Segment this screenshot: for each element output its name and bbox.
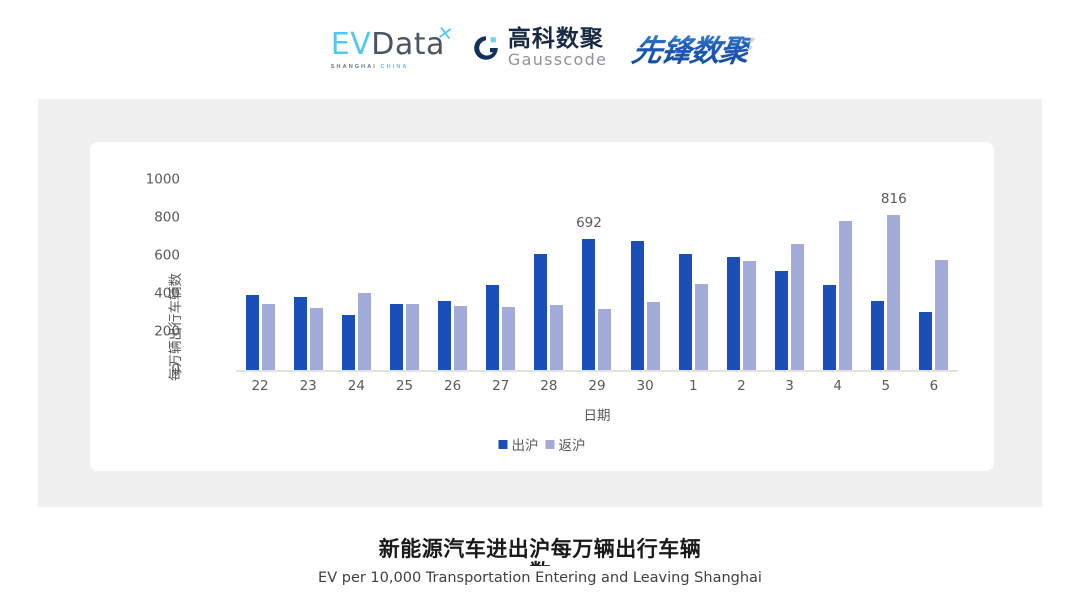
bar-group	[477, 180, 525, 370]
gausscode-en-name: Gausscode	[508, 52, 607, 68]
bar-fan-hu[interactable]	[454, 306, 467, 370]
y-axis-tick-label: 200	[136, 325, 180, 339]
bar-chu-hu[interactable]	[919, 312, 932, 370]
chart-plot-wrapper: 每万辆出行车辆数 02004006008001000 692816 222324…	[90, 142, 994, 471]
evdata-tagline-shanghai: SHANGHAI	[331, 64, 377, 70]
bar-group	[717, 180, 765, 370]
legend-item[interactable]: 出沪	[499, 434, 539, 454]
gausscode-texts: 高科数聚 Gausscode	[508, 28, 607, 68]
bar-chu-hu[interactable]	[727, 257, 740, 370]
legend-label: 返沪	[559, 434, 586, 454]
bar-chu-hu[interactable]	[294, 297, 307, 370]
evdata-tagline: SHANGHAI CHINA	[331, 64, 409, 70]
evdata-tagline-china: CHINA	[381, 64, 409, 70]
bar-chu-hu[interactable]	[871, 301, 884, 370]
bar-fan-hu[interactable]	[550, 305, 563, 370]
bar-fan-hu[interactable]	[310, 308, 323, 370]
x-axis-tick-label: 3	[785, 380, 794, 394]
bar-fan-hu[interactable]	[935, 260, 948, 370]
x-axis-title: 日期	[584, 404, 611, 424]
bar-value-label: 692	[576, 217, 602, 231]
x-axis-tick-label: 4	[833, 380, 842, 394]
bar-group	[765, 180, 813, 370]
bar-group: 816	[862, 180, 910, 370]
bar-fan-hu[interactable]	[502, 307, 515, 370]
bar-group	[621, 180, 669, 370]
bar-fan-hu[interactable]	[647, 302, 660, 370]
bar-chu-hu[interactable]	[534, 254, 547, 370]
evdata-data-text: Data	[371, 27, 445, 62]
bar-group	[332, 180, 380, 370]
y-axis-tick-label: 600	[136, 249, 180, 263]
x-axis-tick-label: 30	[637, 380, 654, 394]
bar-group	[910, 180, 958, 370]
bar-fan-hu[interactable]	[743, 261, 756, 370]
bar-fan-hu[interactable]	[791, 244, 804, 370]
bar-chu-hu[interactable]	[679, 254, 692, 370]
bar-chu-hu[interactable]	[775, 271, 788, 370]
bar-group: 692	[573, 180, 621, 370]
legend-label: 出沪	[512, 434, 539, 454]
bar-group	[669, 180, 717, 370]
x-axis-tick-label: 24	[348, 380, 365, 394]
gausscode-g-mark-icon	[471, 33, 501, 63]
x-axis-tick-label: 6	[930, 380, 939, 394]
bar-fan-hu[interactable]	[598, 309, 611, 370]
x-axis-tick-label: 5	[882, 380, 891, 394]
bar-fan-hu[interactable]	[839, 221, 852, 370]
legend-swatch	[499, 440, 508, 449]
evdata-wordmark: EVData✕	[331, 30, 445, 60]
screenshot-root: EVData✕ SHANGHAI CHINA 高科数聚 Gausscode 先锋…	[0, 0, 1080, 608]
evdata-x-icon: ✕	[436, 24, 455, 45]
x-axis-tick-label: 22	[251, 380, 268, 394]
bar-chu-hu[interactable]	[390, 304, 403, 370]
evdata-ev-text: EV	[331, 27, 371, 62]
y-axis-tick-label: 800	[136, 211, 180, 225]
caption-subtitle: EV per 10,000 Transportation Entering an…	[0, 570, 1080, 586]
y-axis-tick-label: 1000	[136, 173, 180, 187]
gausscode-cn-name: 高科数聚	[508, 28, 607, 51]
logo-bar: EVData✕ SHANGHAI CHINA 高科数聚 Gausscode 先锋…	[0, 0, 1080, 96]
bar-group	[814, 180, 862, 370]
x-axis-tick-label: 29	[588, 380, 605, 394]
bar-group	[236, 180, 284, 370]
bar-fan-hu[interactable]	[406, 304, 419, 371]
bar-fan-hu[interactable]	[695, 284, 708, 370]
x-axis-line	[236, 370, 958, 372]
bars-plot-area: 692816	[236, 180, 958, 370]
bar-group	[284, 180, 332, 370]
bar-group	[525, 180, 573, 370]
bar-fan-hu[interactable]	[358, 293, 371, 370]
xianfeng-shuju-logo: 先锋数聚	[629, 26, 753, 70]
legend-swatch	[546, 440, 555, 449]
x-axis-tick-label: 27	[492, 380, 509, 394]
x-axis-tick-label: 23	[300, 380, 317, 394]
bar-value-label: 816	[881, 193, 907, 207]
bar-group	[429, 180, 477, 370]
bar-group	[380, 180, 428, 370]
bar-chu-hu[interactable]	[438, 301, 451, 370]
bar-fan-hu[interactable]: 816	[887, 215, 900, 370]
evdata-logo: EVData✕ SHANGHAI CHINA	[331, 26, 445, 70]
bar-chu-hu[interactable]	[486, 285, 499, 371]
x-axis-tick-label: 2	[737, 380, 746, 394]
bar-chu-hu[interactable]	[246, 295, 259, 370]
x-axis-tick-label: 26	[444, 380, 461, 394]
chart-card: 每万辆出行车辆数 02004006008001000 692816 222324…	[90, 142, 994, 471]
x-axis-tick-label: 1	[689, 380, 698, 394]
bar-chu-hu[interactable]: 692	[582, 239, 595, 370]
x-axis-tick-label: 28	[540, 380, 557, 394]
bar-fan-hu[interactable]	[262, 304, 275, 370]
x-axis-tick-label: 25	[396, 380, 413, 394]
chart-legend: 出沪返沪	[499, 434, 586, 454]
bar-chu-hu[interactable]	[631, 241, 644, 370]
gausscode-logo: 高科数聚 Gausscode	[471, 28, 607, 68]
caption-title-artifact: 数	[0, 556, 1080, 566]
bar-chu-hu[interactable]	[823, 285, 836, 370]
y-axis-tick-label: 0	[136, 363, 180, 377]
bar-chu-hu[interactable]	[342, 315, 355, 370]
legend-item[interactable]: 返沪	[546, 434, 586, 454]
y-axis-tick-label: 400	[136, 287, 180, 301]
